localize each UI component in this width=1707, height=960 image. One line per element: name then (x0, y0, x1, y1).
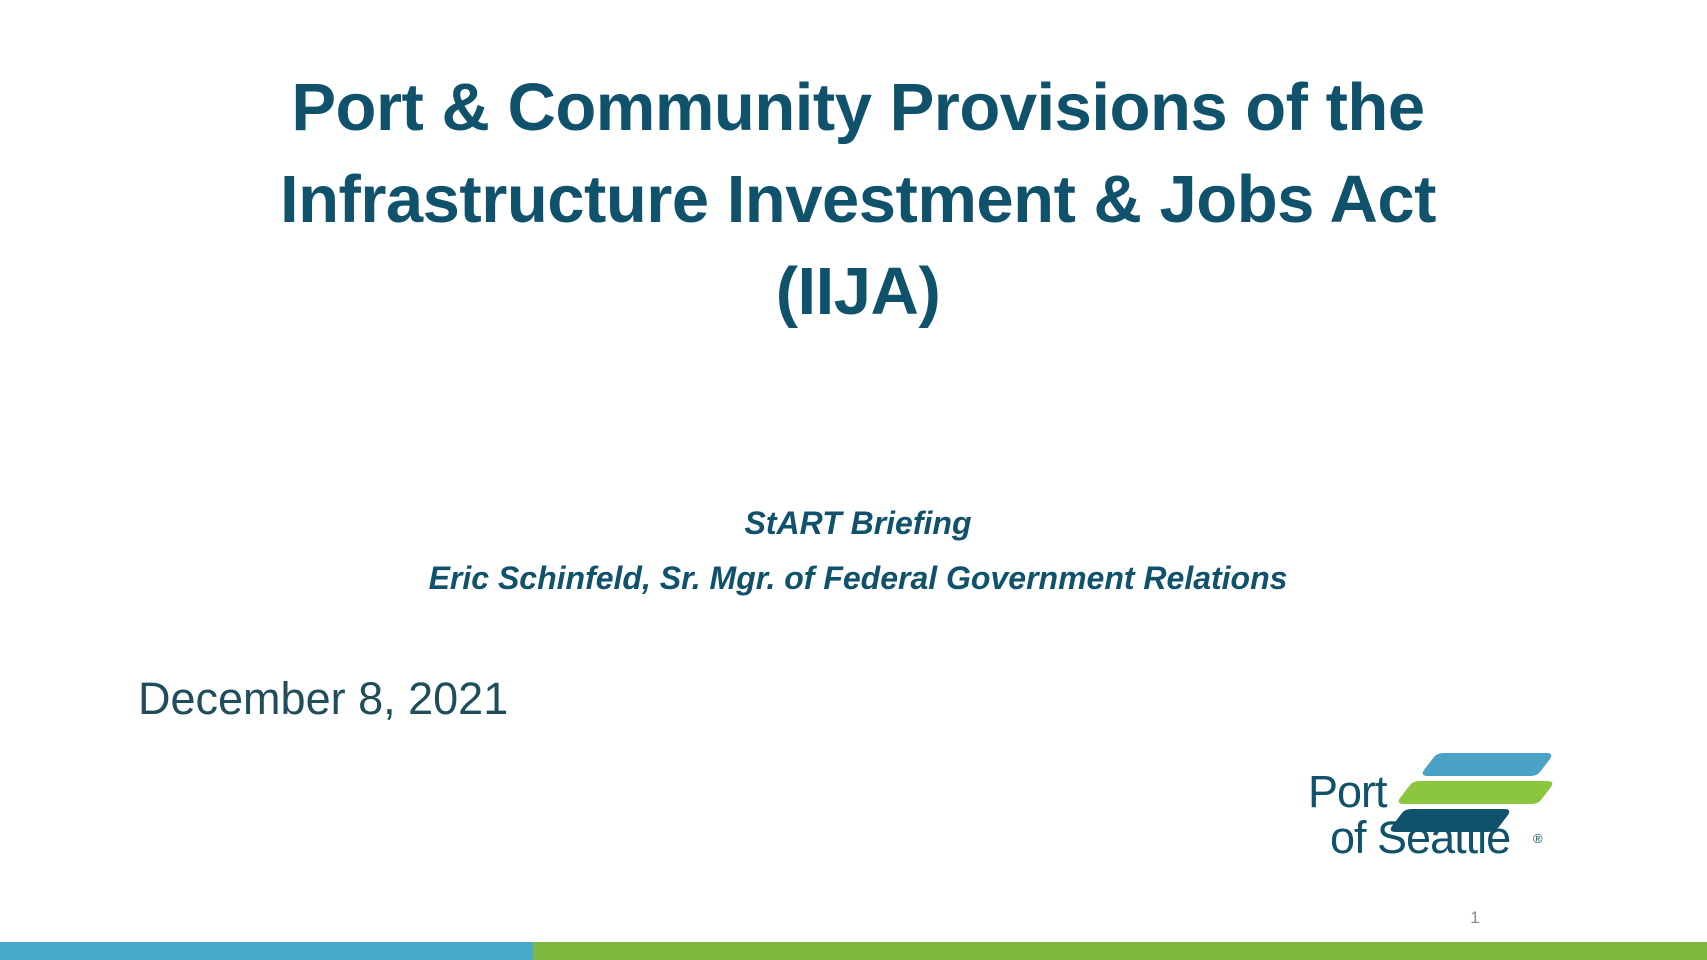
page-number: 1 (1455, 908, 1495, 928)
logo-wordmark-port: Port (1308, 766, 1388, 817)
page-title: Port & Community Provisions of the Infra… (148, 62, 1568, 337)
swoosh-blue-shape (1423, 753, 1552, 776)
swoosh-green-shape (1399, 781, 1553, 804)
accent-bar-blue-segment (0, 942, 533, 960)
presentation-slide: Port & Community Provisions of the Infra… (0, 0, 1707, 960)
bottom-accent-bar (0, 942, 1707, 960)
accent-bar-green-segment (533, 942, 1707, 960)
port-of-seattle-logo: Port of Seattle ® (1292, 745, 1560, 865)
title-block: Port & Community Provisions of the Infra… (148, 62, 1568, 337)
logo-registered-mark: ® (1533, 831, 1543, 846)
subtitle-briefing-name: StART Briefing (148, 496, 1568, 551)
subtitle-block: StART Briefing Eric Schinfeld, Sr. Mgr. … (148, 496, 1568, 606)
logo-wordmark-of-seattle: of Seattle (1330, 812, 1510, 863)
presentation-date: December 8, 2021 (138, 672, 508, 726)
port-of-seattle-logo-icon: Port of Seattle ® (1292, 745, 1560, 865)
subtitle-presenter: Eric Schinfeld, Sr. Mgr. of Federal Gove… (148, 551, 1568, 606)
